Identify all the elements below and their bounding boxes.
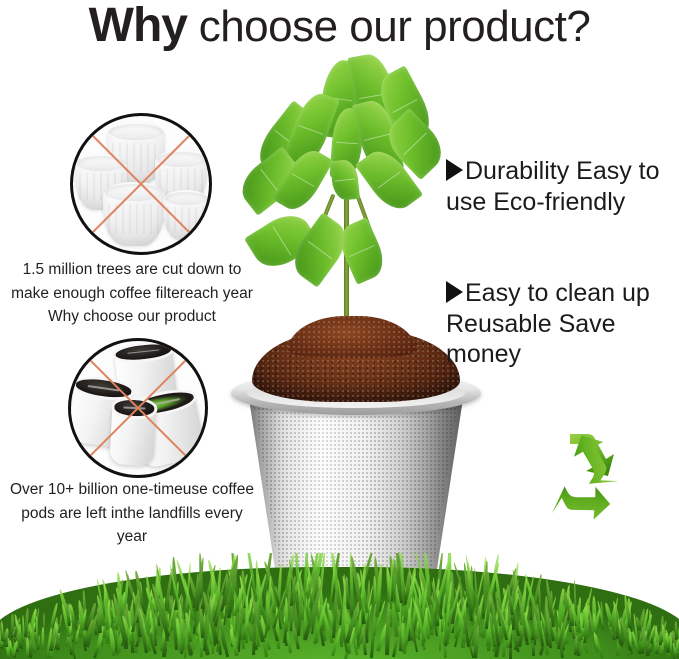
- page-title: Why choose our product?: [0, 2, 679, 50]
- benefit-bullet-1: Durability Easy to use Eco-friendly: [446, 156, 662, 217]
- grass-field: [0, 553, 679, 659]
- recycle-symbol-icon: [526, 428, 626, 528]
- page-title-light: choose our product?: [187, 2, 590, 51]
- filter-mesh: [254, 400, 458, 568]
- benefit-bullet-2: Easy to clean up Reusable Save money: [446, 278, 666, 370]
- page-title-strong: Why: [89, 0, 187, 52]
- cross-out-mark: [73, 116, 209, 252]
- crossed-out-kcup-pods-icon: [68, 338, 208, 478]
- crossed-out-paper-filters-icon: [70, 113, 212, 255]
- triangle-bullet-icon: [446, 281, 463, 303]
- benefit-bullet-2-text: Easy to clean up Reusable Save money: [446, 279, 650, 368]
- cross-out-mark: [71, 341, 205, 475]
- caption-kcup-pods: Over 10+ billion one-timeuse coffee pods…: [8, 478, 256, 549]
- caption-paper-filters: 1.5 million trees are cut down to make e…: [8, 258, 256, 329]
- plant-illustration: [236, 52, 466, 342]
- triangle-bullet-icon: [446, 159, 463, 181]
- benefit-bullet-1-text: Durability Easy to use Eco-friendly: [446, 157, 660, 216]
- infographic-poster: Why choose our product?: [0, 0, 679, 659]
